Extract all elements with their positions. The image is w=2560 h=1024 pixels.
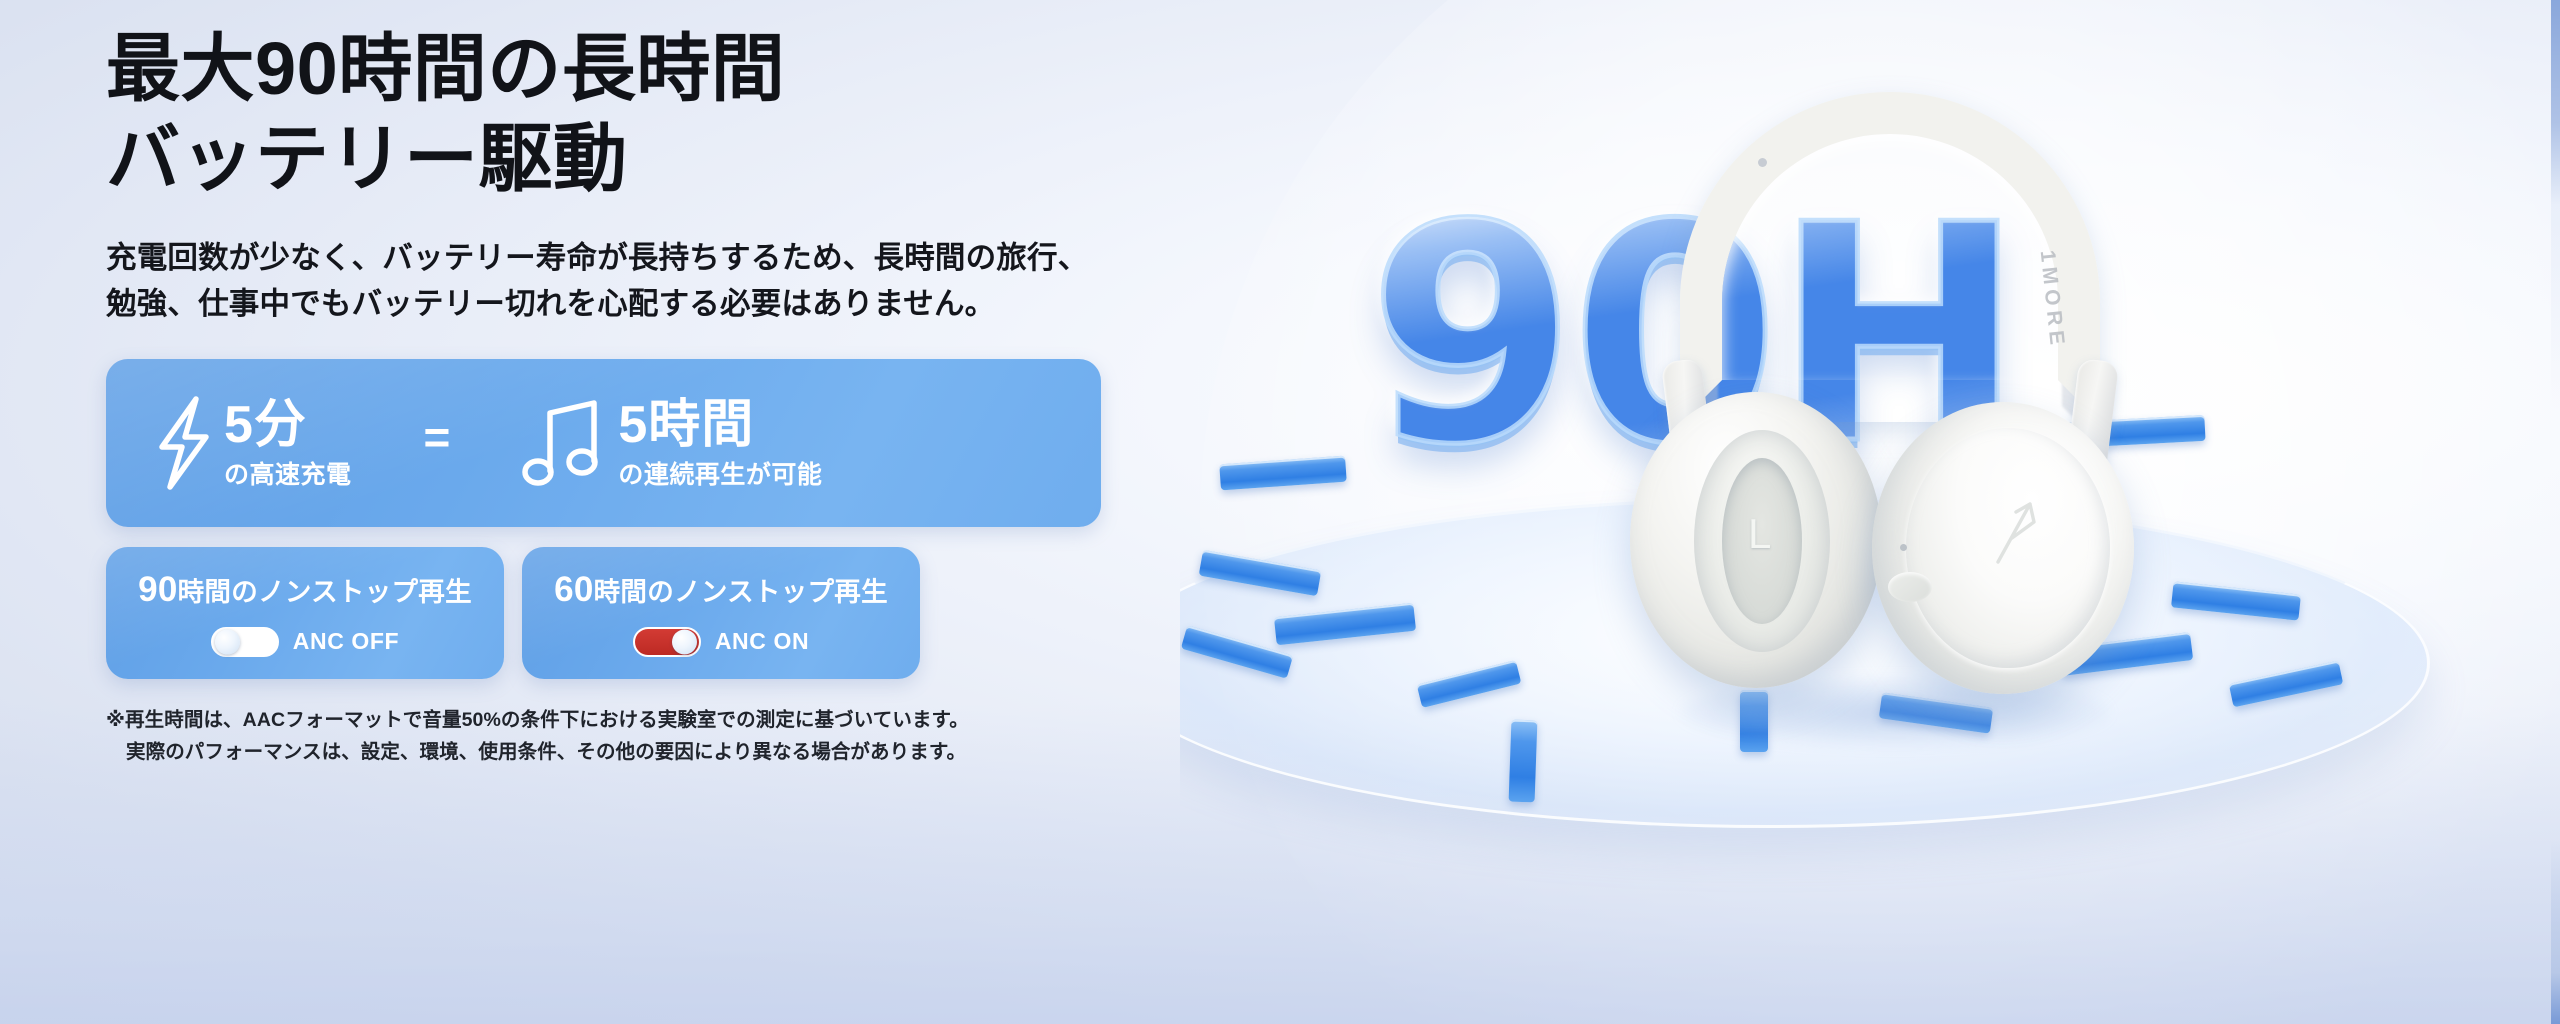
- ear-cup-right: [1872, 402, 2134, 694]
- headphones-shadow: [1680, 677, 2110, 747]
- fast-charge-text: 5分 の高速充電: [224, 399, 352, 488]
- headline-line-1: 最大90時間の長時間: [106, 24, 1246, 114]
- glass-bar: [1509, 720, 1538, 803]
- anc-on-label: ANC ON: [715, 628, 809, 655]
- playback-amount: 5時間: [618, 399, 822, 451]
- page-title: 最大90時間の長時間 バッテリー駆動: [106, 24, 1246, 205]
- anc-on-toggle[interactable]: [633, 627, 701, 657]
- ear-cup-right-notch: [1888, 572, 1932, 602]
- battery-promo-banner: 最大90時間の長時間 バッテリー駆動 充電回数が少なく、バッテリー寿命が長持ちす…: [0, 0, 2560, 1024]
- anc-off-label: ANC OFF: [293, 628, 399, 655]
- ear-cup-left-marking: L: [1748, 510, 1771, 558]
- lede-paragraph: 充電回数が少なく、バッテリー寿命が長持ちするため、長時間の旅行、 勉強、仕事中で…: [106, 235, 1246, 328]
- anc-on-row: ANC ON: [633, 627, 809, 657]
- anc-off-toggle[interactable]: [211, 627, 279, 657]
- product-scene: 90H 90H 1MORE L: [1180, 0, 2560, 1024]
- anc-off-title: 90時間のノンストップ再生: [138, 570, 472, 610]
- anc-on-toggle-knob: [672, 629, 697, 654]
- headband-dot: [1758, 158, 1767, 167]
- anc-on-hours: 60: [554, 570, 594, 609]
- anc-off-toggle-knob: [215, 629, 240, 654]
- headline-line-2: バッテリー駆動: [106, 114, 1246, 204]
- anc-off-hours: 90: [138, 570, 178, 609]
- footnote-line-2: 実際のパフォーマンスは、設定、環境、使用条件、その他の要因により異なる場合があり…: [106, 737, 1246, 769]
- equals-sign: =: [424, 410, 451, 464]
- music-note-icon: [516, 395, 612, 491]
- anc-off-title-rest: 時間のノンストップ再生: [178, 577, 472, 607]
- lightning-bolt-icon: [152, 395, 214, 491]
- anc-card-row: 90時間のノンストップ再生 ANC OFF 60時間のノンストップ再生: [106, 547, 1246, 679]
- feature-cards: 5分 の高速充電 = 5時間 の連続再生が可能: [106, 359, 1246, 679]
- lede-line-1: 充電回数が少なく、バッテリー寿命が長持ちするため、長時間の旅行、: [106, 235, 1246, 281]
- anc-off-card: 90時間のノンストップ再生 ANC OFF: [106, 547, 504, 679]
- anc-on-title-rest: 時間のノンストップ再生: [594, 577, 888, 607]
- 1more-logo-icon: [1990, 498, 2044, 568]
- playback-caption: の連続再生が可能: [618, 463, 822, 488]
- fast-charge-card: 5分 の高速充電 = 5時間 の連続再生が可能: [106, 359, 1101, 527]
- anc-off-row: ANC OFF: [211, 627, 399, 657]
- playback-group: 5時間 の連続再生が可能: [516, 395, 822, 491]
- fast-charge-caption: の高速充電: [224, 463, 352, 488]
- lede-line-2: 勉強、仕事中でもバッテリー切れを心配する必要はありません。: [106, 281, 1246, 327]
- playback-text: 5時間 の連続再生が可能: [618, 399, 822, 488]
- anc-on-card: 60時間のノンストップ再生 ANC ON: [522, 547, 920, 679]
- microphone-port-icon: [1900, 544, 1907, 551]
- footnote: ※再生時間は、AACフォーマットで音量50%の条件下における実験室での測定に基づ…: [106, 705, 1246, 768]
- copy-column: 最大90時間の長時間 バッテリー駆動 充電回数が少なく、バッテリー寿命が長持ちす…: [106, 24, 1246, 768]
- headphones-product-image: 1MORE L: [1610, 92, 2170, 732]
- footnote-line-1: ※再生時間は、AACフォーマットで音量50%の条件下における実験室での測定に基づ…: [106, 709, 969, 731]
- fast-charge-amount: 5分: [224, 399, 352, 451]
- ear-cup-left: L: [1630, 392, 1882, 688]
- anc-on-title: 60時間のノンストップ再生: [554, 570, 888, 610]
- fast-charge-group: 5分 の高速充電: [152, 395, 352, 491]
- glass-bar: [1219, 456, 1347, 491]
